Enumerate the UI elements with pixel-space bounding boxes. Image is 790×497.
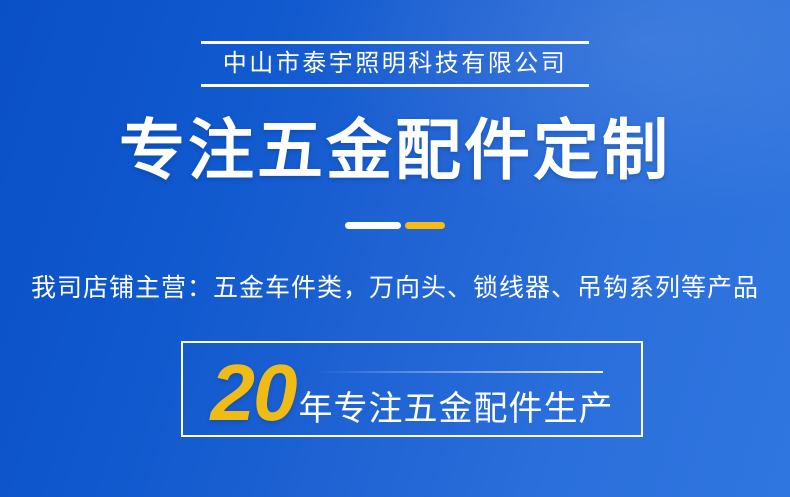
company-name-bottom-rule xyxy=(201,84,589,87)
years-label: 年专注五金配件生产 xyxy=(298,387,613,431)
years-experience-line: 20 年专注五金配件生产 xyxy=(183,357,641,431)
company-name: 中山市泰宇照明科技有限公司 xyxy=(0,44,790,84)
years-experience-box: 20 年专注五金配件生产 xyxy=(181,341,643,437)
headline: 专注五金配件定制 xyxy=(0,108,790,192)
promotional-banner: 中山市泰宇照明科技有限公司 专注五金配件定制 我司店铺主营：五金车件类，万向头、… xyxy=(0,0,790,497)
divider-segment-accent xyxy=(405,222,445,229)
divider-segment-white xyxy=(345,222,401,229)
subtitle: 我司店铺主营：五金车件类，万向头、锁线器、吊钩系列等产品 xyxy=(0,268,790,308)
company-name-block: 中山市泰宇照明科技有限公司 xyxy=(0,41,790,87)
section-divider xyxy=(0,222,790,229)
years-number: 20 xyxy=(211,357,296,429)
